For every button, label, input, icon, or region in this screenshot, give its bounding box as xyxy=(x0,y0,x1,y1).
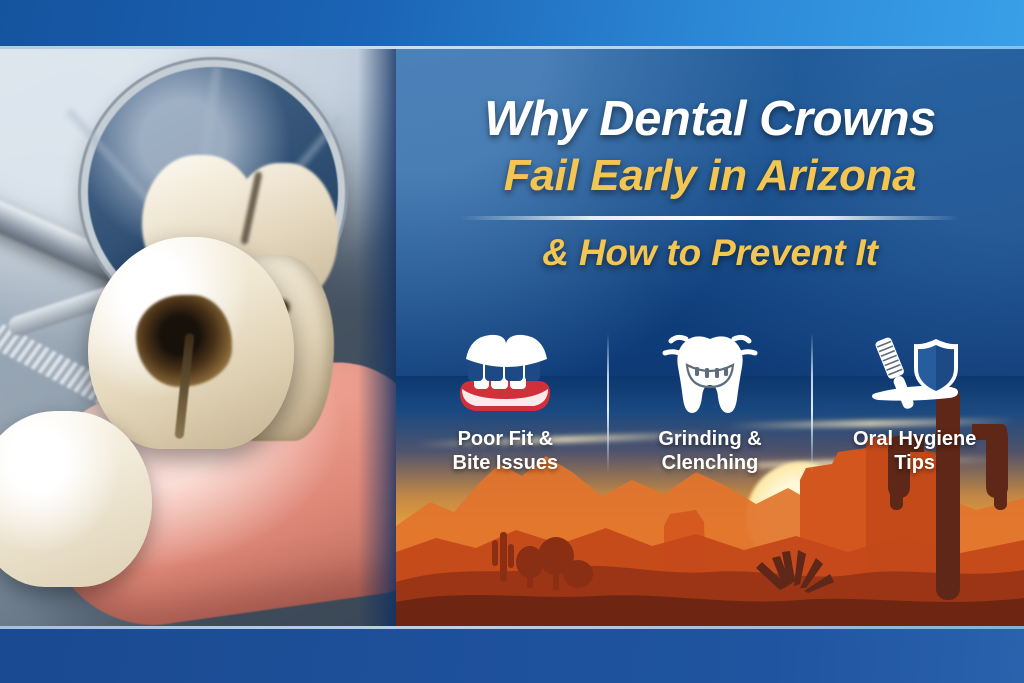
feature-label-line1: Oral Hygiene xyxy=(853,428,976,450)
toothbrush-shield-icon xyxy=(862,331,968,417)
feature-grinding-clenching[interactable]: Grinding & Clenching xyxy=(609,331,812,476)
title-divider xyxy=(460,216,960,220)
feature-label-line2: Bite Issues xyxy=(453,452,559,474)
feature-label: Oral Hygiene Tips xyxy=(853,427,976,476)
feature-label-line1: Grinding & xyxy=(658,428,761,450)
dental-crown-bite-icon xyxy=(452,331,558,417)
dental-crowns-banner: Why Dental Crowns Fail Early in Arizona … xyxy=(0,0,1024,683)
feature-label-line2: Tips xyxy=(894,452,935,474)
top-band-hairline xyxy=(0,46,1024,49)
feature-label-line1: Poor Fit & xyxy=(458,428,554,450)
content-panel: Why Dental Crowns Fail Early in Arizona … xyxy=(396,49,1024,626)
feature-label-line2: Clenching xyxy=(662,452,759,474)
page-title: Why Dental Crowns xyxy=(396,93,1024,146)
feature-oral-hygiene-tips[interactable]: Oral Hygiene Tips xyxy=(813,331,1016,476)
feature-row: Poor Fit & Bite Issues xyxy=(404,331,1016,499)
bottom-accent-band xyxy=(0,626,1024,683)
top-accent-band xyxy=(0,0,1024,49)
feature-label: Poor Fit & Bite Issues xyxy=(453,427,559,476)
clinical-tooth-photo xyxy=(0,49,404,626)
page-tagline: & How to Prevent It xyxy=(396,232,1024,274)
headline-block: Why Dental Crowns Fail Early in Arizona … xyxy=(396,93,1024,274)
feature-label: Grinding & Clenching xyxy=(658,427,761,476)
grinding-tooth-icon xyxy=(657,331,763,417)
page-subtitle: Fail Early in Arizona xyxy=(396,151,1024,200)
decayed-molar xyxy=(88,237,294,449)
feature-poor-fit-bite-issues[interactable]: Poor Fit & Bite Issues xyxy=(404,331,607,476)
bottom-band-hairline xyxy=(0,626,1024,629)
banner-stage: Why Dental Crowns Fail Early in Arizona … xyxy=(0,49,1024,626)
